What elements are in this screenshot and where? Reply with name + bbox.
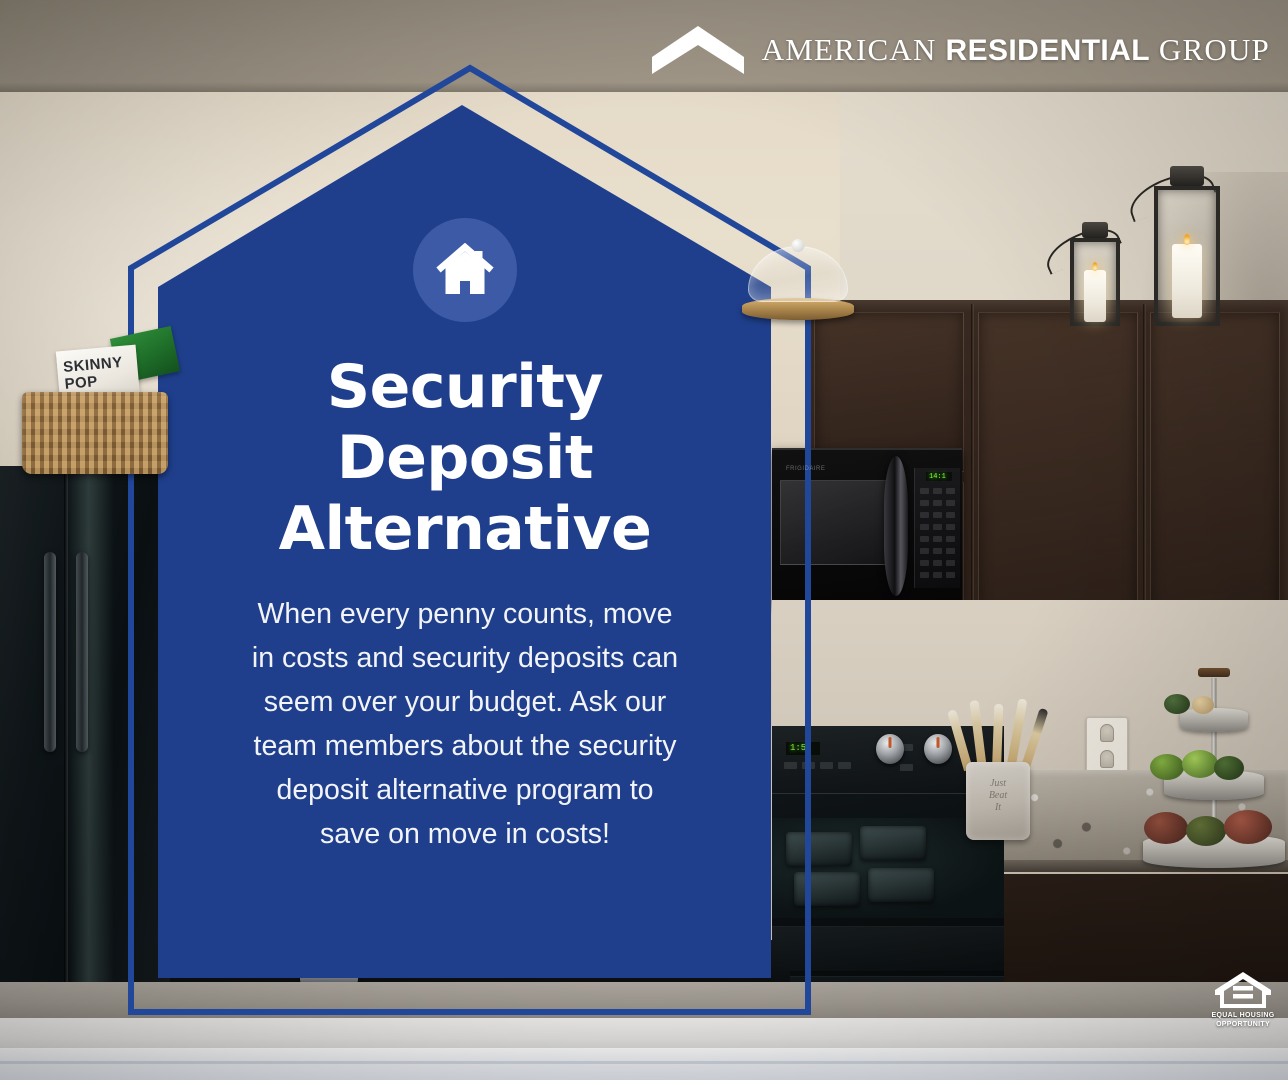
lantern-cap (1170, 166, 1204, 186)
chevron-roof-mark-icon (652, 24, 744, 76)
brand-name-group: GROUP (1159, 32, 1270, 67)
tiered-serving-tray (1140, 662, 1288, 862)
equal-housing-opportunity-logo: EQUAL HOUSING OPPORTUNITY (1206, 970, 1280, 1032)
eho-line-1: EQUAL HOUSING (1206, 1012, 1280, 1021)
body-line-1: When every penny counts, move (185, 592, 745, 636)
produce (1182, 750, 1218, 778)
lantern-cap (1082, 222, 1108, 238)
produce (1150, 754, 1184, 780)
eho-line-2: OPPORTUNITY (1206, 1021, 1280, 1030)
dome-knob (792, 239, 805, 252)
equal-housing-house-icon (1214, 970, 1272, 1010)
tray-tier-top (1180, 708, 1248, 732)
brand-logo: AMERICAN RESIDENTIAL GROUP (652, 24, 1270, 76)
body-line-5: deposit alternative program to (185, 768, 745, 812)
candle-flame-icon (1093, 262, 1098, 271)
snack-bag-label: SKINNY POP (62, 353, 139, 393)
crock-text: Just Beat It (966, 778, 1030, 814)
brand-name-american: AMERICAN (762, 32, 937, 67)
tray-handle (1198, 668, 1230, 677)
wooden-utensils (958, 700, 1048, 770)
equal-housing-caption: EQUAL HOUSING OPPORTUNITY (1206, 1012, 1280, 1029)
brand-name: AMERICAN RESIDENTIAL GROUP (762, 32, 1270, 68)
lantern-large (1146, 166, 1228, 326)
produce (1214, 756, 1244, 780)
produce (1186, 816, 1226, 846)
brand-name-residential: RESIDENTIAL (946, 34, 1150, 67)
candle-flame-icon (1184, 234, 1190, 245)
body-line-6: save on move in costs! (185, 812, 745, 856)
utensil-crock: Just Beat It (966, 762, 1030, 840)
panel-content: Security Deposit Alternative When every … (158, 190, 772, 980)
headline-line-1: Security (185, 352, 745, 423)
lantern-small (1064, 222, 1126, 326)
house-icon (436, 243, 494, 297)
wicker-basket (22, 392, 168, 474)
headline-line-2: Deposit (185, 423, 745, 494)
produce (1164, 694, 1190, 714)
produce (1224, 810, 1272, 844)
headline-line-3: Alternative (185, 494, 745, 565)
poster-canvas: FRIGIDAIRE 14:1 (0, 0, 1288, 1080)
body-line-2: in costs and security deposits can (185, 636, 745, 680)
body-line-4: team members about the security (185, 724, 745, 768)
microwave-brand-label: FRIGIDAIRE (786, 466, 944, 472)
page-title: Security Deposit Alternative (185, 352, 745, 564)
body-line-3: seem over your budget. Ask our (185, 680, 745, 724)
house-badge (413, 218, 517, 322)
body-paragraph: When every penny counts, move in costs a… (185, 592, 745, 856)
produce (1192, 696, 1214, 714)
candle (1172, 244, 1202, 318)
candle (1084, 270, 1106, 322)
produce (1144, 812, 1188, 844)
